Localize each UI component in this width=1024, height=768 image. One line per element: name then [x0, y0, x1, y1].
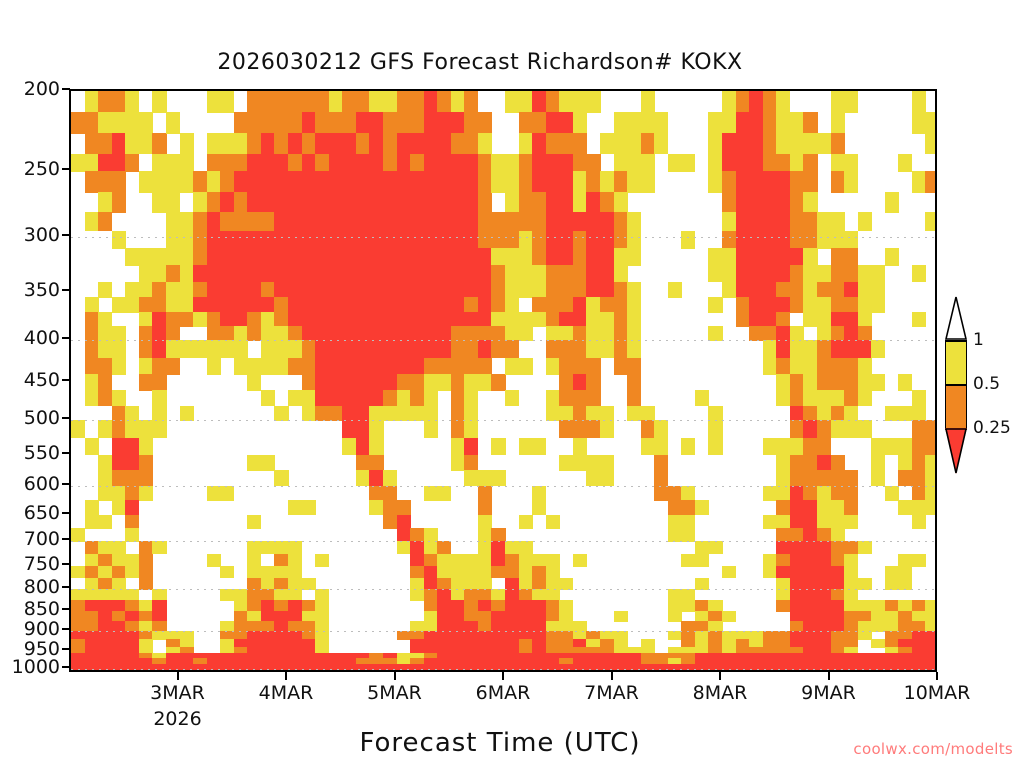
chart-title: 2026030212 GFS Forecast Richardson# KOKX — [0, 50, 960, 75]
richardson-number-chart: 2026030212 GFS Forecast Richardson# KOKX… — [0, 0, 1024, 768]
x-axis-year-label: 2026 — [153, 708, 201, 730]
colorbar-tick-label: 1 — [973, 330, 984, 350]
x-axis-tick-label: 4MAR — [259, 682, 314, 704]
x-axis-tick-mark — [177, 672, 179, 680]
x-axis-tick-label: 5MAR — [367, 682, 422, 704]
colorbar-boundary-line — [945, 340, 967, 342]
terrain-band — [71, 91, 935, 670]
colorbar-boundary-line — [945, 384, 967, 386]
colorbar-band-yellow — [945, 340, 967, 384]
x-axis-tick-mark — [936, 672, 938, 680]
x-axis-tick-labels: 3MAR20264MAR5MAR6MAR7MAR8MAR9MAR10MAR — [0, 682, 1024, 712]
colorbar-extend-upper-outline — [945, 296, 967, 340]
x-axis-tick-mark — [611, 672, 613, 680]
x-axis-tick-label: 8MAR — [693, 682, 748, 704]
x-axis-tick-mark — [502, 672, 504, 680]
colorbar-extend-lower-outline — [945, 428, 967, 474]
watermark-text: coolwx.com/modelts — [0, 740, 1013, 758]
colorbar-tick-label: 0.25 — [973, 418, 1011, 438]
x-axis-tick-label: 9MAR — [801, 682, 856, 704]
plot-area — [69, 89, 937, 672]
y-axis-tick-marks — [0, 89, 70, 672]
x-axis-tick-label: 7MAR — [584, 682, 639, 704]
x-axis-tick-mark — [828, 672, 830, 680]
x-axis-tick-mark — [394, 672, 396, 680]
x-axis-tick-marks — [69, 672, 937, 682]
x-axis-tick-label: 6MAR — [476, 682, 531, 704]
x-axis-tick-mark — [719, 672, 721, 680]
colorbar-band-orange — [945, 384, 967, 428]
x-axis-tick-mark — [285, 672, 287, 680]
x-axis-tick-label: 10MAR — [904, 682, 971, 704]
x-axis-tick-label: 3MAR — [150, 682, 205, 704]
colorbar-tick-label: 0.5 — [973, 374, 1000, 394]
colorbar-legend: 10.50.25 — [941, 296, 1021, 486]
